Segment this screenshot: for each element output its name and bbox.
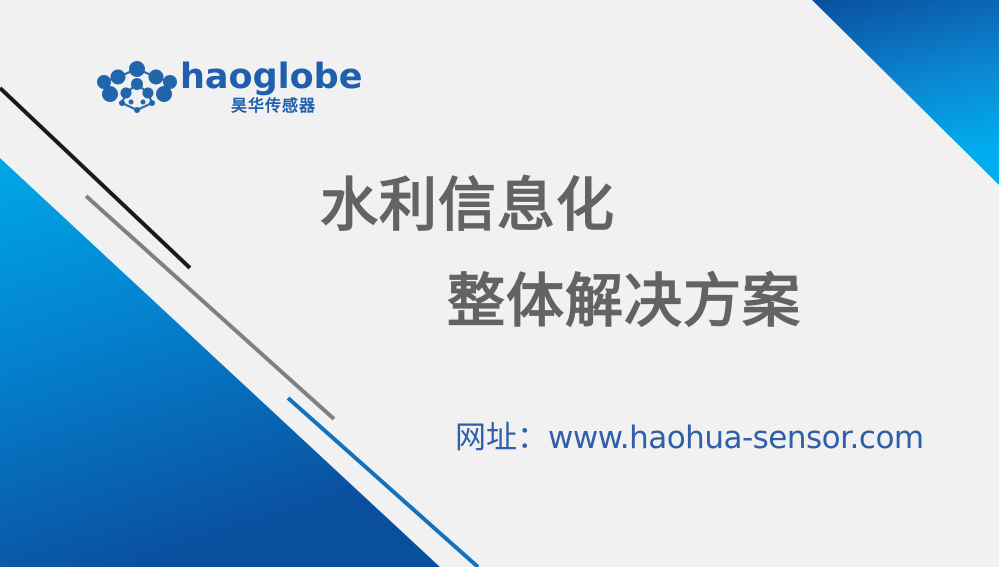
page-title-line-1: 水利信息化 xyxy=(320,176,615,234)
logo-wordmark-block: haoglobe 昊华传感器 xyxy=(180,58,316,118)
company-logo: haoglobe 昊华传感器 xyxy=(96,58,316,120)
logo-wordmark: haoglobe xyxy=(180,58,316,96)
slide-canvas: haoglobe 昊华传感器 水利信息化 整体解决方案 网址：www.haohu… xyxy=(0,0,999,567)
page-title-line-2: 整体解决方案 xyxy=(447,272,801,330)
molecular-network-logo-mark-icon xyxy=(96,60,178,118)
website-label: 网址： xyxy=(455,420,548,456)
logo-chinese-name: 昊华传感器 xyxy=(180,97,316,115)
website-line: 网址：www.haohua-sensor.com xyxy=(455,423,924,454)
website-url[interactable]: www.haohua-sensor.com xyxy=(548,420,924,456)
